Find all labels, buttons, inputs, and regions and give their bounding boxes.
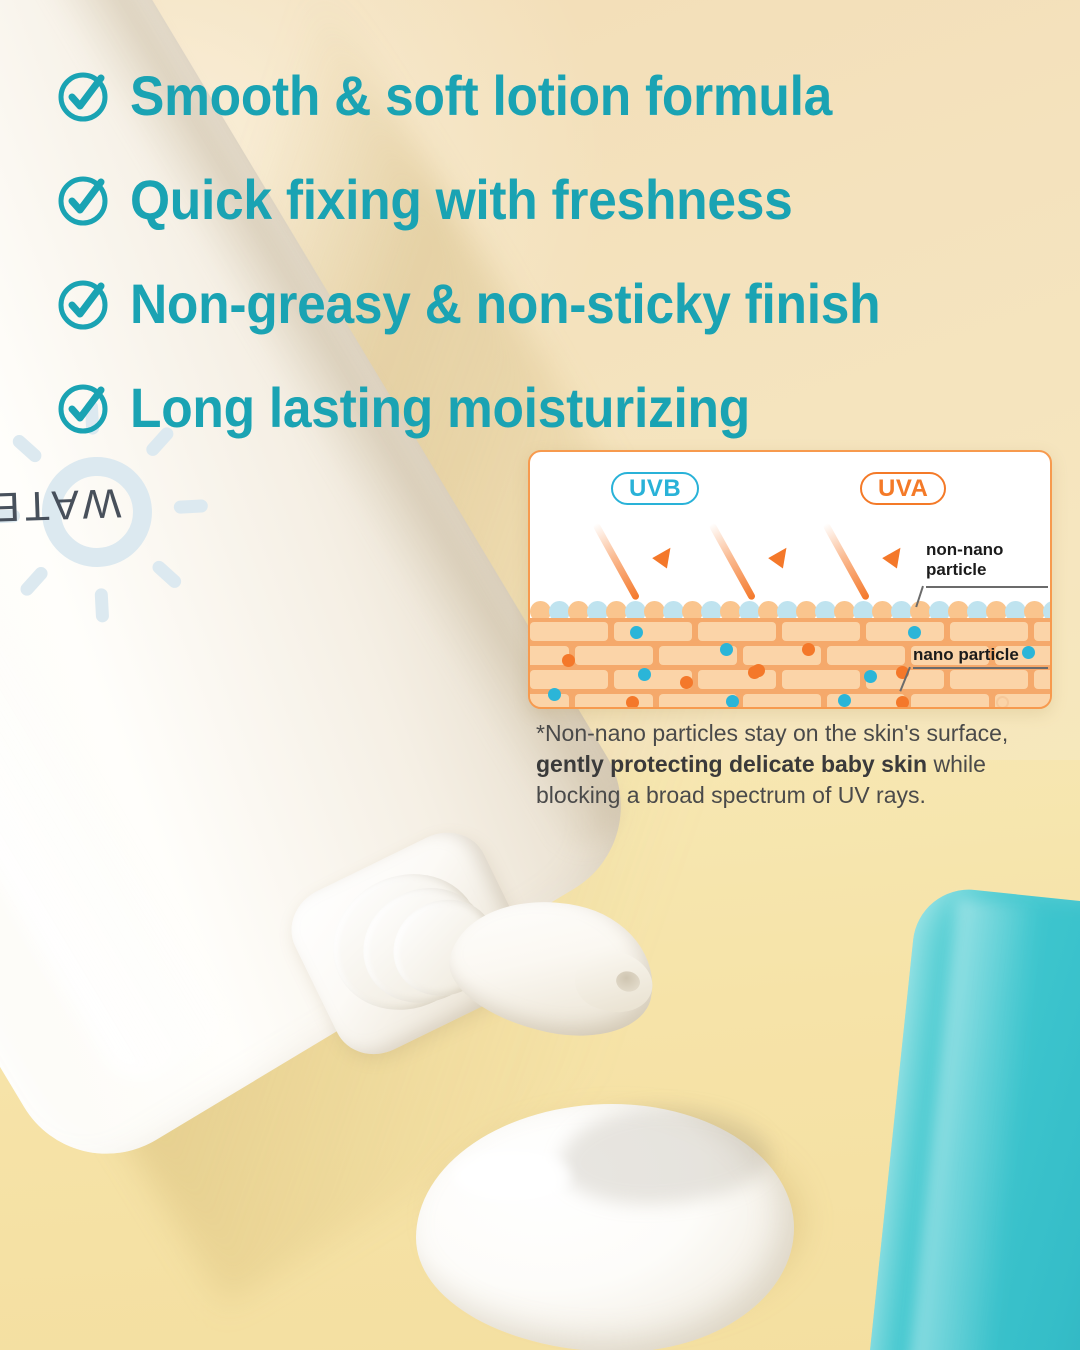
uv-ray-bounce [822, 524, 932, 604]
uv-protection-diagram: UVB UVA [528, 450, 1052, 709]
nano-particle [748, 666, 761, 679]
brick [575, 694, 653, 707]
check-circle-icon [56, 173, 110, 227]
brick [866, 622, 944, 641]
sun-ray [174, 499, 209, 514]
caption-line-3: blocking a broad spectrum of UV rays. [536, 782, 926, 808]
nano-particle [802, 643, 815, 656]
brick [911, 694, 989, 707]
brick [1034, 670, 1050, 689]
feature-item: Long lasting moisturizing [56, 356, 1056, 460]
callout-non-nano-particle: non-nano particle [926, 540, 1003, 580]
nano-particle [680, 676, 693, 689]
nano-particle [908, 626, 921, 639]
brick-row [530, 670, 1050, 689]
brick-pattern [530, 618, 1050, 637]
brick [950, 670, 1028, 689]
nano-particle [548, 688, 561, 701]
nano-particle [626, 696, 639, 707]
nano-particle [720, 643, 733, 656]
brick [950, 622, 1028, 641]
caption-after-bold: while [927, 751, 986, 777]
callout-line-2: particle [926, 560, 1003, 580]
nano-particle [896, 696, 909, 707]
sun-ray [10, 432, 44, 464]
brick [575, 646, 653, 665]
sun-ray [150, 558, 184, 590]
callout-nano-particle: nano particle [913, 645, 1019, 665]
nano-particle [1022, 646, 1035, 659]
feature-item: Quick fixing with freshness [56, 148, 1056, 252]
feature-label: Quick fixing with freshness [130, 172, 792, 228]
brick [743, 694, 821, 707]
check-circle-icon [56, 69, 110, 123]
uva-badge: UVA [860, 472, 946, 505]
feature-label: Long lasting moisturizing [130, 380, 750, 436]
callout-leader-line [913, 667, 1048, 669]
nano-particle [726, 695, 739, 707]
caption-bold: gently protecting delicate baby skin [536, 751, 927, 777]
brick [530, 622, 608, 641]
brick [782, 670, 860, 689]
lotion-blob-highlight [452, 1150, 570, 1202]
nano-particle [838, 694, 851, 707]
nano-particle [638, 668, 651, 681]
uv-ray-bounce [708, 524, 818, 604]
brick [698, 622, 776, 641]
brick [530, 670, 608, 689]
feature-label: Smooth & soft lotion formula [130, 68, 832, 124]
brick [614, 622, 692, 641]
feature-item: Non-greasy & non-sticky finish [56, 252, 1056, 356]
brick [782, 622, 860, 641]
product-marketing-image: WATERFUL SUN LOTION [0, 0, 1080, 1350]
uvb-badge: UVB [611, 472, 699, 505]
callout-leader-line [926, 586, 1048, 588]
sun-ray [94, 588, 109, 623]
hollow-particle [996, 696, 1009, 707]
callout-line-1: non-nano [926, 540, 1003, 560]
feature-list: Smooth & soft lotion formula Quick fixin… [56, 44, 1056, 460]
uv-ray-incoming [708, 522, 756, 601]
brick [827, 646, 905, 665]
uv-ray-incoming [822, 522, 870, 601]
feature-item: Smooth & soft lotion formula [56, 44, 1056, 148]
caption-text: *Non-nano particles stay on the skin's s… [536, 718, 1048, 810]
uv-ray-arrowhead [652, 543, 678, 569]
sun-ray [18, 564, 50, 598]
brick-row [530, 622, 1050, 641]
bottle-cap-highlight [907, 898, 1043, 1350]
check-circle-icon [56, 277, 110, 331]
uv-ray-bounce [592, 524, 702, 604]
nano-particle [630, 626, 643, 639]
uv-ray-arrowhead [882, 543, 908, 569]
bottle-nozzle [281, 796, 679, 1143]
brick-row [530, 694, 1050, 707]
uv-ray-arrowhead [768, 543, 794, 569]
feature-label: Non-greasy & non-sticky finish [130, 276, 880, 332]
brick [1034, 622, 1050, 641]
uv-ray-incoming [592, 522, 640, 601]
nano-particle [562, 654, 575, 667]
caption-line-1: *Non-nano particles stay on the skin's s… [536, 720, 1008, 746]
nano-particle [864, 670, 877, 683]
check-circle-icon [56, 381, 110, 435]
